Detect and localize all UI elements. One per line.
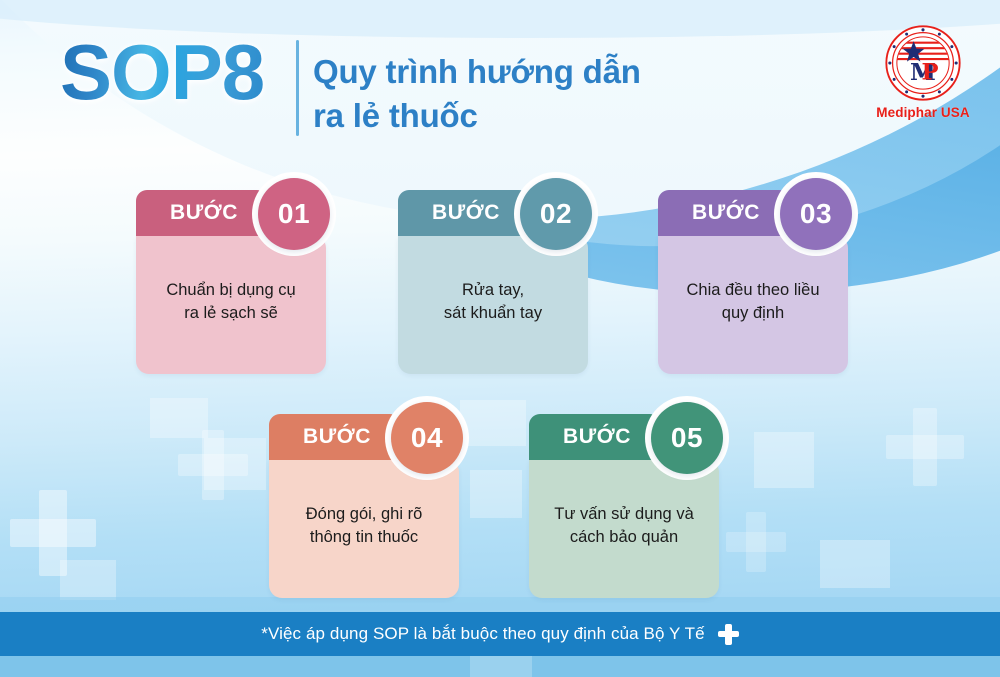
step-description-line-1: Tư vấn sử dụng và — [554, 503, 694, 526]
step-badge-label: BƯỚC — [299, 425, 371, 449]
decorative-block — [754, 432, 814, 488]
step-badge-label: BƯỚC — [688, 201, 760, 225]
decorative-cross-icon — [886, 408, 964, 486]
step-description-line-2: sát khuẩn tay — [444, 302, 542, 325]
step-badge-label: BƯỚC — [428, 201, 500, 225]
step-description-line-2: cách bảo quản — [554, 526, 694, 549]
step-number: 02 — [520, 178, 592, 250]
step-body-01: Chuẩn bị dụng cụ ra lẻ sạch sẽ — [136, 236, 326, 374]
step-header-02: BƯỚC — [398, 190, 530, 236]
step-description-line-1: Chuẩn bị dụng cụ — [166, 279, 295, 302]
step-body-02: Rửa tay, sát khuẩn tay — [398, 236, 588, 374]
step-body-03: Chia đều theo liều quy định — [658, 236, 848, 374]
step-description-line-2: thông tin thuốc — [306, 526, 423, 549]
medical-cross-icon — [718, 624, 739, 645]
page-subtitle: Quy trình hướng dẫn ra lẻ thuốc — [313, 50, 641, 137]
step-number: 03 — [780, 178, 852, 250]
step-header-03: BƯỚC — [658, 190, 790, 236]
step-description: Đóng gói, ghi rõ thông tin thuốc — [306, 503, 423, 550]
brand-name: Mediphar USA — [868, 105, 978, 120]
step-header-01: BƯỚC — [136, 190, 268, 236]
decorative-block — [820, 540, 890, 588]
step-card-03: BƯỚC Chia đều theo liều quy định 03 — [658, 190, 848, 374]
step-number: 05 — [651, 402, 723, 474]
footer-lower-band-accent — [470, 656, 532, 677]
decorative-cross-icon — [726, 512, 786, 572]
brand-logo: M P — [868, 24, 978, 120]
step-card-02: BƯỚC Rửa tay, sát khuẩn tay 02 — [398, 190, 588, 374]
poster-header: SOP8 Quy trình hướng dẫn ra lẻ thuốc — [0, 0, 1000, 160]
step-number-badge-04: 04 — [385, 396, 469, 480]
step-number-badge-01: 01 — [252, 172, 336, 256]
step-card-04: BƯỚC Đóng gói, ghi rõ thông tin thuốc 04 — [269, 414, 459, 598]
step-description: Chia đều theo liều quy định — [686, 279, 819, 326]
step-number-badge-02: 02 — [514, 172, 598, 256]
title-divider — [296, 40, 299, 136]
step-header-04: BƯỚC — [269, 414, 401, 460]
decorative-block — [460, 400, 526, 446]
decorative-block — [150, 398, 208, 438]
footer-upper-band — [0, 597, 1000, 612]
step-card-05: BƯỚC Tư vấn sử dụng và cách bảo quản 05 — [529, 414, 719, 598]
step-card-01: BƯỚC Chuẩn bị dụng cụ ra lẻ sạch sẽ 01 — [136, 190, 326, 374]
step-header-05: BƯỚC — [529, 414, 661, 460]
decorative-block — [470, 470, 522, 518]
footer-note-text: *Việc áp dụng SOP là bắt buộc theo quy đ… — [261, 624, 704, 644]
step-body-05: Tư vấn sử dụng và cách bảo quản — [529, 460, 719, 598]
step-description: Chuẩn bị dụng cụ ra lẻ sạch sẽ — [166, 279, 295, 326]
step-description: Rửa tay, sát khuẩn tay — [444, 279, 542, 326]
step-number: 01 — [258, 178, 330, 250]
circular-seal-icon: M P — [884, 24, 962, 102]
step-description-line-2: quy định — [686, 302, 819, 325]
step-badge-label: BƯỚC — [559, 425, 631, 449]
svg-text:P: P — [922, 59, 939, 85]
step-description-line-2: ra lẻ sạch sẽ — [166, 302, 295, 325]
step-body-04: Đóng gói, ghi rõ thông tin thuốc — [269, 460, 459, 598]
step-description-line-1: Đóng gói, ghi rõ — [306, 503, 423, 526]
step-badge-label: BƯỚC — [166, 201, 238, 225]
footer-note-bar: *Việc áp dụng SOP là bắt buộc theo quy đ… — [0, 612, 1000, 656]
step-number: 04 — [391, 402, 463, 474]
step-number-badge-05: 05 — [645, 396, 729, 480]
decorative-block — [204, 438, 266, 490]
step-description: Tư vấn sử dụng và cách bảo quản — [554, 503, 694, 550]
step-description-line-1: Chia đều theo liều — [686, 279, 819, 302]
step-number-badge-03: 03 — [774, 172, 858, 256]
page-title: SOP8 — [60, 33, 264, 111]
step-description-line-1: Rửa tay, — [444, 279, 542, 302]
subtitle-line-2: ra lẻ thuốc — [313, 94, 641, 138]
subtitle-line-1: Quy trình hướng dẫn — [313, 50, 641, 94]
infographic-poster: SOP8 Quy trình hướng dẫn ra lẻ thuốc — [0, 0, 1000, 677]
decorative-block — [60, 560, 116, 600]
